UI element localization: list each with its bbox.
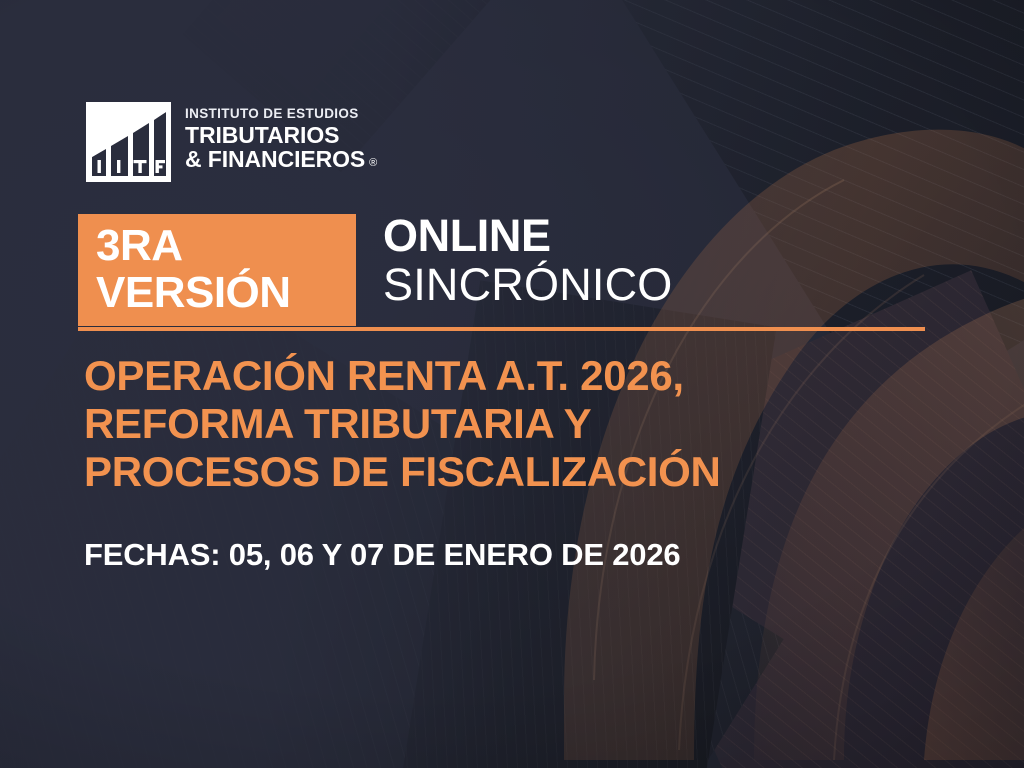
version-badge: 3RA VERSIÓN <box>78 214 356 326</box>
version-badge-line-2: VERSIÓN <box>96 270 356 317</box>
version-badge-line-1: 3RA <box>96 223 356 270</box>
orange-divider-rule <box>78 327 925 331</box>
modality-sincronico: SINCRÓNICO <box>383 261 673 309</box>
itf-bar-chart-icon <box>86 102 171 182</box>
headline-line-2: REFORMA TRIBUTARIA Y <box>84 400 984 448</box>
logo-line-tributarios: TRIBUTARIOS <box>185 123 377 147</box>
logo-wordmark: INSTITUTO DE ESTUDIOS TRIBUTARIOS & FINA… <box>185 102 377 171</box>
event-dates: FECHAS: 05, 06 Y 07 DE ENERO DE 2026 <box>84 537 680 573</box>
logo-line-instituto: INSTITUTO DE ESTUDIOS <box>185 107 377 122</box>
headline-line-3: PROCESOS DE FISCALIZACIÓN <box>84 448 984 496</box>
headline-block: OPERACIÓN RENTA A.T. 2026, REFORMA TRIBU… <box>84 352 984 496</box>
logo-financieros-text: & FINANCIEROS <box>185 147 365 171</box>
modality-online: ONLINE <box>383 212 673 259</box>
itf-logo-lockup: INSTITUTO DE ESTUDIOS TRIBUTARIOS & FINA… <box>86 102 377 182</box>
promotional-banner: INSTITUTO DE ESTUDIOS TRIBUTARIOS & FINA… <box>0 0 1024 768</box>
headline-line-1: OPERACIÓN RENTA A.T. 2026, <box>84 352 984 400</box>
modality-block: ONLINE SINCRÓNICO <box>383 212 673 309</box>
logo-line-financieros: & FINANCIEROS ® <box>185 147 377 171</box>
registered-trademark-icon: ® <box>369 158 377 170</box>
banner-content: INSTITUTO DE ESTUDIOS TRIBUTARIOS & FINA… <box>0 0 1024 768</box>
